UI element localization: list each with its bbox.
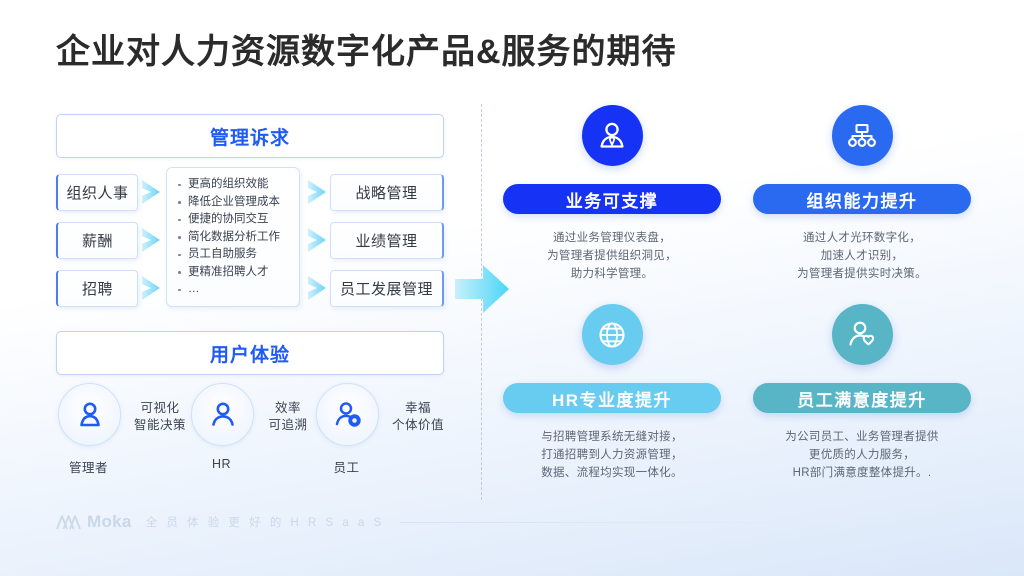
list-item: …: [175, 281, 293, 299]
footer-tagline: 全 员 体 验 更 好 的 H R S a a S: [146, 514, 385, 530]
persona-label-hr: HR: [191, 457, 252, 471]
outcome-card-employee-satisfaction[interactable]: 员工满意度提升 为公司员工、业务管理者提供 更优质的人力服务， HR部门满意度整…: [743, 304, 981, 482]
user-experience-header: 用户体验: [56, 331, 444, 375]
list-item: 便捷的协同交互: [175, 211, 293, 229]
persona-value-manager: 可视化 智能决策: [124, 400, 196, 434]
chevron-right-icon: [306, 227, 328, 253]
chevron-right-icon: [306, 179, 328, 205]
persona-value-employee: 幸福 个体价值: [382, 400, 454, 434]
chevron-right-icon: [140, 179, 162, 205]
list-item: 简化数据分析工作: [175, 229, 293, 247]
list-item: 更高的组织效能: [175, 176, 293, 194]
management-demand-header: 管理诉求: [56, 114, 444, 158]
manager-person-icon: [58, 383, 121, 446]
person-badge-icon: [582, 105, 643, 166]
outcome-card-org-capability[interactable]: 组织能力提升 通过人才光环数字化， 加速人才识别， 为管理者提供实时决策。: [743, 105, 981, 283]
person-heart-icon: [832, 304, 893, 365]
moka-logo-icon: Moka: [56, 512, 132, 532]
target-chip-0[interactable]: 战略管理: [330, 174, 444, 211]
outcome-card-description: 通过人才光环数字化， 加速人才识别， 为管理者提供实时决策。: [743, 229, 981, 283]
outcome-card-label: 业务可支撑: [503, 184, 721, 214]
source-chip-2[interactable]: 招聘: [56, 270, 138, 307]
persona-value-hr: 效率 可追溯: [252, 400, 324, 434]
page-title: 企业对人力资源数字化产品&服务的期待: [56, 24, 677, 73]
chevron-right-icon: [140, 275, 162, 301]
outcome-card-hr-professionalism[interactable]: HR专业度提升 与招聘管理系统无缝对接， 打通招聘到人力资源管理， 数据、流程均…: [493, 304, 731, 482]
list-item: 更精准招聘人才: [175, 264, 293, 282]
target-chip-1[interactable]: 业绩管理: [330, 222, 444, 259]
outcome-card-label: 组织能力提升: [753, 184, 971, 214]
chevron-right-icon: [306, 275, 328, 301]
globe-icon: [582, 304, 643, 365]
list-item: 员工自助服务: [175, 246, 293, 264]
hr-person-icon: [191, 383, 254, 446]
target-chip-2[interactable]: 员工发展管理: [330, 270, 444, 307]
org-chart-icon: [832, 105, 893, 166]
footer: Moka 全 员 体 验 更 好 的 H R S a a S: [56, 512, 1010, 532]
outcome-card-business-support[interactable]: 业务可支撑 通过业务管理仪表盘， 为管理者提供组织洞见， 助力科学管理。: [493, 105, 731, 283]
demand-bullet-list: 更高的组织效能 降低企业管理成本 便捷的协同交互 简化数据分析工作 员工自助服务…: [166, 167, 300, 307]
outcome-card-description: 通过业务管理仪表盘， 为管理者提供组织洞见， 助力科学管理。: [493, 229, 731, 283]
persona-label-manager: 管理者: [58, 457, 119, 476]
outcome-card-label: 员工满意度提升: [753, 383, 971, 413]
outcome-card-label: HR专业度提升: [503, 383, 721, 413]
slide-root: 企业对人力资源数字化产品&服务的期待 管理诉求 组织人事 薪酬 招聘: [0, 0, 1024, 576]
list-item: 降低企业管理成本: [175, 194, 293, 212]
employee-gear-person-icon: [316, 383, 379, 446]
footer-brand: Moka: [87, 512, 132, 532]
persona-label-employee: 员工: [316, 457, 377, 476]
footer-divider: [400, 522, 1010, 523]
source-chip-0[interactable]: 组织人事: [56, 174, 138, 211]
source-chip-1[interactable]: 薪酬: [56, 222, 138, 259]
outcome-card-description: 为公司员工、业务管理者提供 更优质的人力服务， HR部门满意度整体提升。.: [743, 428, 981, 482]
outcome-card-description: 与招聘管理系统无缝对接， 打通招聘到人力资源管理， 数据、流程均实现一体化。: [493, 428, 731, 482]
chevron-right-icon: [140, 227, 162, 253]
